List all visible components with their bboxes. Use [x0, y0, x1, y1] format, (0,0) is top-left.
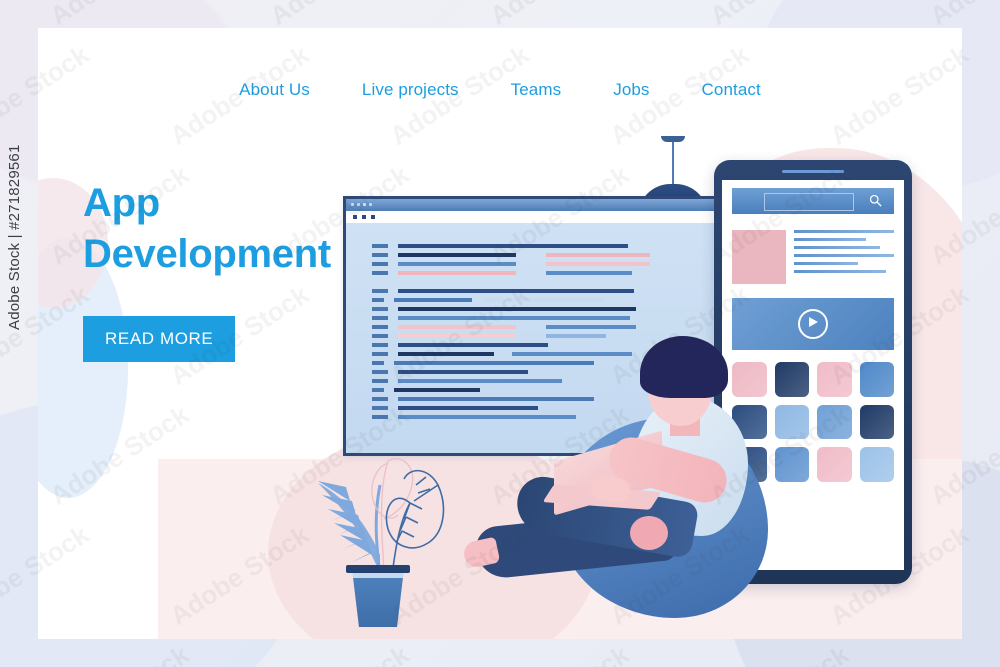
illustration-canvas: About Us Live projects Teams Jobs Contac…	[0, 0, 1000, 667]
code-line-row	[346, 277, 718, 286]
browser-title-dots	[351, 203, 372, 206]
code-line-number	[372, 316, 388, 320]
code-line-number	[372, 388, 384, 392]
code-line-number	[372, 334, 388, 338]
nav-item-contact[interactable]: Contact	[676, 80, 787, 100]
code-line-segment	[398, 271, 516, 275]
phone-text-lines	[794, 230, 894, 278]
person-ear	[696, 380, 710, 396]
nav-item-teams[interactable]: Teams	[485, 80, 588, 100]
code-line-number	[372, 397, 388, 401]
code-line-number	[372, 325, 388, 329]
code-line-segment	[484, 298, 604, 302]
search-input[interactable]	[764, 193, 854, 211]
code-line-number	[372, 415, 388, 419]
hero-section: App Development READ MORE	[83, 178, 331, 362]
content-card: About Us Live projects Teams Jobs Contac…	[38, 28, 962, 639]
plant-pot	[350, 571, 406, 627]
code-line-row	[346, 250, 718, 259]
play-icon[interactable]	[798, 309, 828, 339]
code-line-number	[372, 253, 388, 257]
code-line-row	[346, 295, 718, 304]
person-illustration	[458, 328, 778, 639]
code-line-segment	[394, 298, 472, 302]
phone-app-tile[interactable]	[860, 405, 895, 440]
code-line-number	[372, 379, 388, 383]
person-hair	[640, 336, 728, 398]
nav-item-live-projects[interactable]: Live projects	[336, 80, 485, 100]
phone-app-tile[interactable]	[775, 447, 810, 482]
phone-text-line	[794, 262, 858, 265]
phone-text-line	[794, 254, 894, 257]
person-knee	[630, 516, 668, 550]
read-more-button[interactable]: READ MORE	[83, 316, 235, 362]
code-line-number	[372, 289, 388, 293]
browser-tab-row	[346, 211, 718, 223]
code-line-number	[372, 244, 388, 248]
code-line-segment	[398, 262, 516, 266]
code-line-number	[372, 370, 388, 374]
code-line-segment	[516, 253, 546, 257]
phone-app-tile[interactable]	[817, 447, 852, 482]
browser-title-bar	[346, 199, 718, 211]
code-line-row	[346, 259, 718, 268]
code-line-number	[372, 298, 384, 302]
code-line-number	[372, 406, 388, 410]
code-line-number	[372, 262, 388, 266]
code-line-number	[372, 343, 388, 347]
code-line-row	[346, 304, 718, 313]
code-line-segment	[516, 262, 546, 266]
phone-search-bar[interactable]	[732, 188, 894, 214]
code-line-segment	[546, 262, 650, 266]
code-line-row	[346, 268, 718, 277]
phone-text-line	[794, 230, 894, 233]
browser-window-controls	[353, 215, 375, 219]
phone-app-tile[interactable]	[775, 405, 810, 440]
phone-speaker	[782, 170, 844, 173]
code-line-segment	[546, 253, 650, 257]
phone-app-tile[interactable]	[817, 362, 852, 397]
page-title: App Development	[83, 178, 331, 280]
stock-watermark: Adobe Stock | #271829561	[6, 144, 23, 330]
code-line-segment	[472, 298, 484, 302]
code-line-row	[346, 313, 718, 322]
phone-text-line	[794, 238, 866, 241]
phone-text-line	[794, 246, 880, 249]
code-line-segment	[398, 253, 516, 257]
phone-app-tile[interactable]	[860, 447, 895, 482]
potted-plant-icon	[288, 423, 468, 633]
search-icon[interactable]	[868, 193, 883, 208]
page-title-line-1: App	[83, 178, 331, 229]
code-line-number	[372, 361, 384, 365]
code-line-segment	[398, 244, 628, 248]
plant-pot-rim	[346, 565, 410, 573]
plant-pot-highlight	[350, 573, 406, 578]
main-navigation: About Us Live projects Teams Jobs Contac…	[38, 80, 962, 100]
code-line-number	[372, 307, 388, 311]
phone-image-placeholder	[732, 230, 786, 284]
code-line-row	[346, 286, 718, 295]
code-line-segment	[398, 307, 636, 311]
code-line-segment	[516, 271, 546, 275]
code-line-segment	[398, 289, 634, 293]
code-line-number	[372, 271, 388, 275]
phone-app-tile[interactable]	[775, 362, 810, 397]
code-line-row	[346, 241, 718, 250]
code-line-number	[372, 352, 388, 356]
phone-app-tile[interactable]	[860, 362, 895, 397]
phone-text-line	[794, 270, 886, 273]
nav-item-about-us[interactable]: About Us	[213, 80, 336, 100]
nav-item-jobs[interactable]: Jobs	[587, 80, 675, 100]
page-title-line-2: Development	[83, 229, 331, 280]
code-line-segment	[546, 271, 632, 275]
nav-items: About Us Live projects Teams Jobs Contac…	[213, 80, 787, 100]
code-line-segment	[398, 316, 630, 320]
lamp-cord	[672, 142, 674, 184]
phone-app-tile[interactable]	[817, 405, 852, 440]
